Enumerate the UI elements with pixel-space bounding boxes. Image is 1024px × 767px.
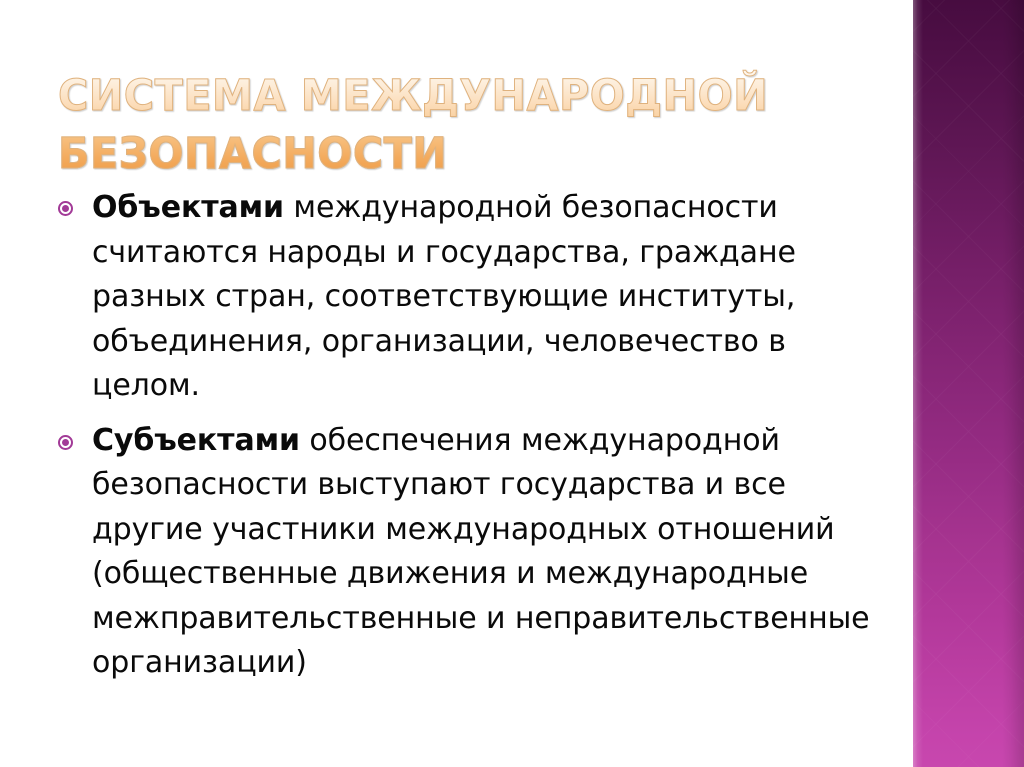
list-item: Субъектами обеспечения международной без…: [52, 419, 882, 686]
decorative-gradient-band: [913, 0, 1024, 767]
band-left-highlight: [913, 0, 923, 767]
bullet-lead-term: Объектами: [92, 190, 284, 225]
band-right-shadow: [1002, 0, 1024, 767]
slide-canvas: Система международной безопасности Объек…: [0, 0, 1024, 767]
bullet-lead-term: Субъектами: [92, 423, 300, 458]
bullet-list: Объектами международной безопасности счи…: [52, 186, 882, 686]
ring-bullet-icon: [58, 435, 73, 450]
ring-bullet-icon: [58, 201, 73, 216]
list-item: Объектами международной безопасности счи…: [52, 186, 882, 409]
bullet-paragraph: Объектами международной безопасности счи…: [92, 186, 882, 409]
bullet-paragraph: Субъектами обеспечения международной без…: [92, 419, 882, 686]
slide-title: Система международной безопасности: [58, 67, 845, 183]
bullet-body-text: обеспечения международной безопасности в…: [92, 423, 870, 681]
